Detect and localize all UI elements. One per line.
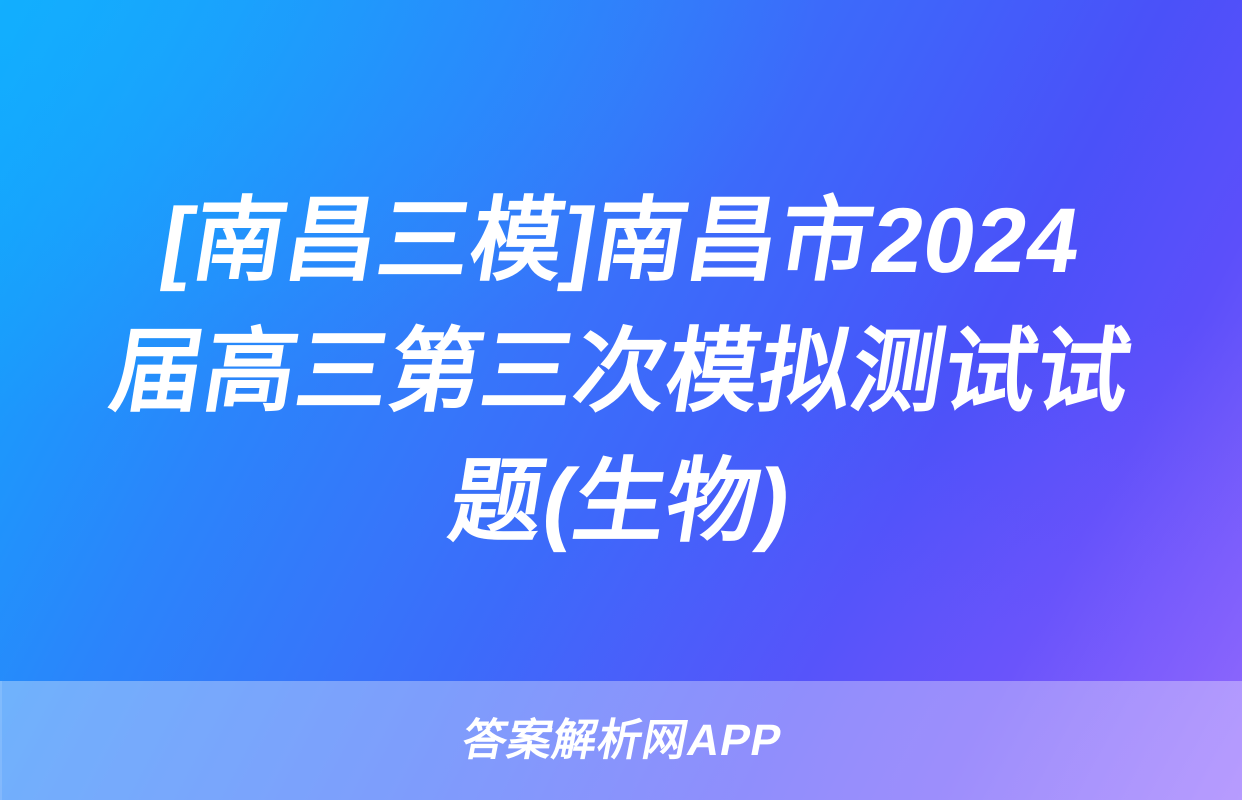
watermark-band: 答案解析网APP [0, 681, 1242, 800]
page-title-line-3: 题(生物) [68, 437, 1175, 568]
page-title-line-1: [南昌三模]南昌市2024 [68, 176, 1175, 307]
exam-cover-poster: [南昌三模]南昌市2024 届高三第三次模拟测试试 题(生物) 答案解析网APP [0, 0, 1242, 800]
watermark-label: 答案解析网APP [458, 719, 785, 763]
page-title-line-2: 届高三第三次模拟测试试 [68, 307, 1175, 438]
page-title: [南昌三模]南昌市2024 届高三第三次模拟测试试 题(生物) [0, 176, 1242, 568]
